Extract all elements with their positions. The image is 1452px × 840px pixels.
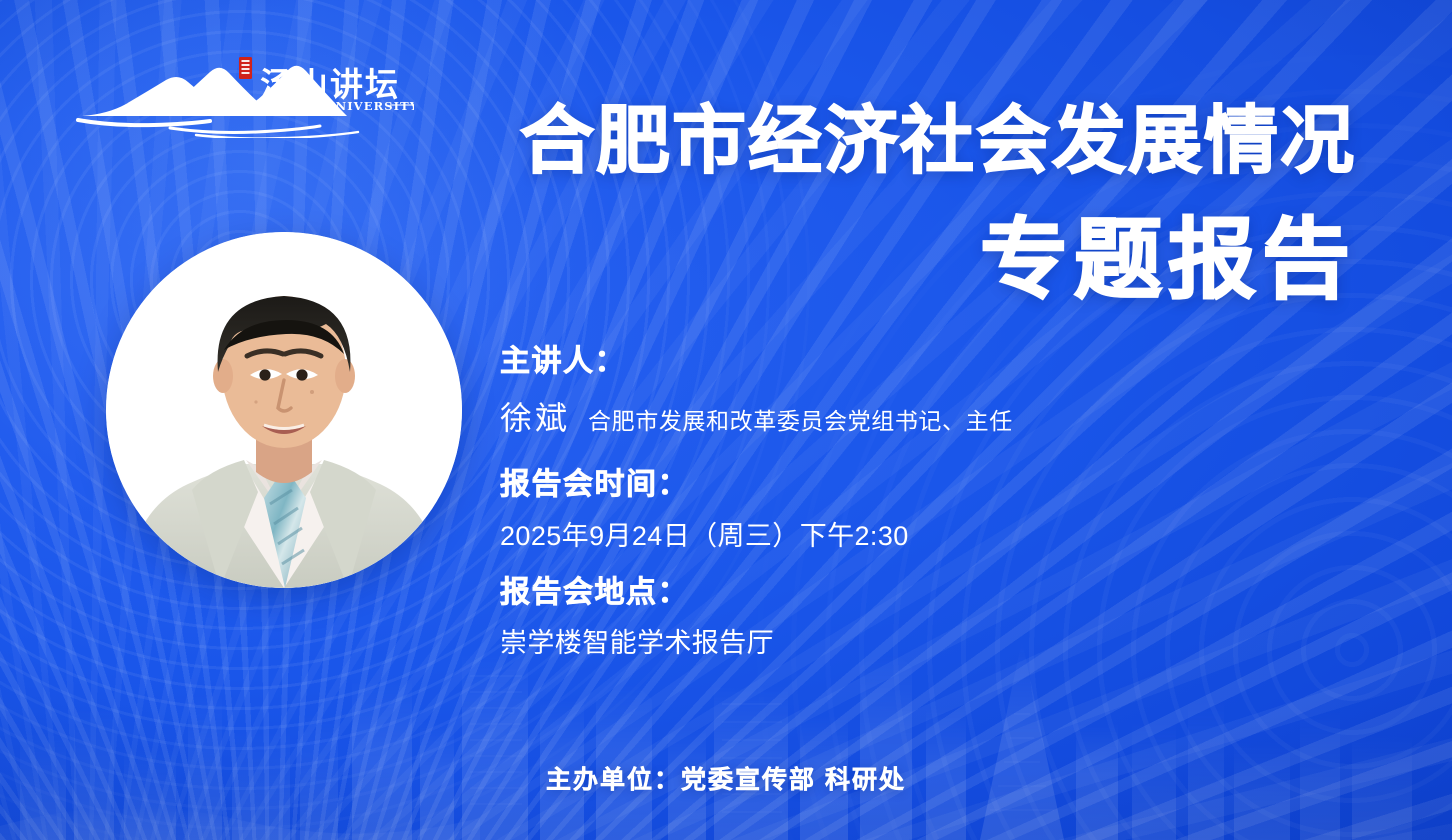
headline-line-2: 专题报告 <box>396 216 1356 304</box>
red-seal-icon <box>239 57 252 79</box>
water-wave-icon <box>78 120 358 138</box>
speaker-row: 徐斌 合肥市发展和改革委员会党组书记、主任 <box>500 393 1400 439</box>
event-poster: 汤山讲坛 CHAOHU UNIVERSITY 合肥市经济社会发展情况 专题报告 <box>0 0 1452 840</box>
speaker-portrait <box>106 232 462 588</box>
headline-line-1: 合肥市经济社会发展情况 <box>396 104 1356 178</box>
organizer-text: 主办单位：党委宣传部 科研处 <box>546 760 906 796</box>
poster-headline: 合肥市经济社会发展情况 专题报告 <box>396 104 1356 304</box>
speaker-name: 徐斌 <box>500 393 570 439</box>
speaker-title: 合肥市发展和改革委员会党组书记、主任 <box>588 402 1013 436</box>
forum-logo: 汤山讲坛 CHAOHU UNIVERSITY <box>74 52 414 138</box>
speaker-label: 主讲人： <box>500 344 1400 379</box>
time-label: 报告会时间： <box>500 467 1400 502</box>
poster-footer: 主办单位：党委宣传部 科研处 <box>0 760 1452 796</box>
speaker-portrait-illustration <box>106 232 462 588</box>
logo-name-en: CHAOHU UNIVERSITY <box>253 99 414 113</box>
event-details: 主讲人： 徐斌 合肥市发展和改革委员会党组书记、主任 报告会时间： 2025年9… <box>500 344 1400 660</box>
place-label: 报告会地点： <box>500 575 1400 610</box>
place-value: 崇学楼智能学术报告厅 <box>500 621 1400 660</box>
forum-logo-svg: 汤山讲坛 CHAOHU UNIVERSITY <box>74 52 414 138</box>
time-value: 2025年9月24日（周三）下午2:30 <box>500 514 1400 553</box>
